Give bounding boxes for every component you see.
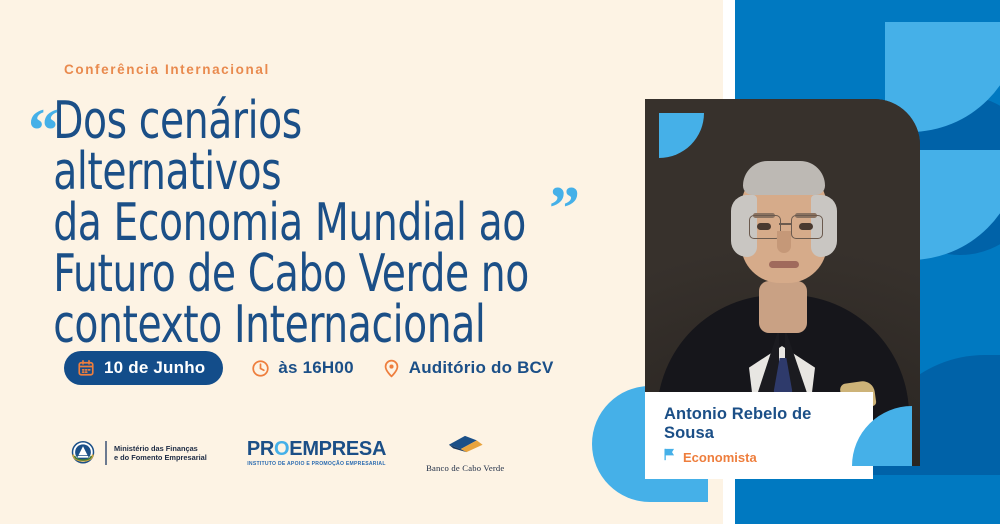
clock-icon — [251, 359, 270, 378]
logo-ministerio-label: Ministério das Finanças e do Fomento Emp… — [114, 444, 207, 463]
portrait-nose — [777, 231, 791, 253]
venue-item: Auditório do BCV — [376, 358, 554, 378]
proempresa-word-left: PR — [247, 438, 274, 460]
date-badge[interactable]: 10 de Junho — [64, 351, 223, 385]
speaker-role-row: Economista — [664, 448, 857, 466]
proempresa-wordmark: PROEMPRESA — [247, 439, 386, 459]
proempresa-subtitle: INSTITUTO DE APOIO E PROMOÇÃO EMPRESARIA… — [247, 461, 386, 467]
event-meta-row: 10 de Junho às 16H00 Auditório do BCV — [64, 351, 554, 385]
flag-icon — [664, 448, 676, 466]
logo-divider — [105, 441, 107, 465]
proempresa-word-right: EMPRESA — [289, 438, 386, 460]
portrait-glasses-bridge — [779, 223, 791, 225]
crest-icon — [68, 438, 98, 468]
speaker-name-card: Antonio Rebelo de Sousa Economista — [645, 392, 873, 479]
location-pin-icon — [382, 359, 401, 378]
conference-poster: Conferência Internacional “ Dos cenários… — [0, 0, 1000, 524]
logo-banco-de-cabo-verde: Banco de Cabo Verde — [426, 433, 504, 473]
logo-proempresa: PROEMPRESA INSTITUTO DE APOIO E PROMOÇÃO… — [247, 439, 386, 467]
portrait-hair-top — [743, 161, 825, 195]
eyebrow-label: Conferência Internacional — [64, 62, 270, 77]
partner-logos: Ministério das Finanças e do Fomento Emp… — [68, 433, 504, 473]
bcv-label: Banco de Cabo Verde — [426, 463, 504, 473]
portrait-neck — [759, 281, 807, 333]
venue-label: Auditório do BCV — [409, 358, 554, 378]
speaker-role: Economista — [683, 450, 757, 465]
logo-ministerio-das-financas: Ministério das Finanças e do Fomento Emp… — [68, 438, 207, 468]
portrait-eye-right — [799, 223, 813, 230]
date-label: 10 de Junho — [104, 358, 205, 378]
time-item: às 16H00 — [245, 358, 353, 378]
time-label: às 16H00 — [278, 358, 353, 378]
calendar-icon — [77, 359, 95, 377]
book-icon — [442, 442, 488, 459]
speaker-name: Antonio Rebelo de Sousa — [664, 405, 857, 443]
quote-close-icon: ” — [549, 178, 577, 240]
proempresa-word-mid: O — [274, 438, 289, 460]
portrait-eye-left — [757, 223, 771, 230]
portrait-mouth — [769, 261, 799, 268]
page-title: Dos cenários alternativos da Economia Mu… — [28, 96, 532, 351]
title-block: “ Dos cenários alternativos da Economia … — [28, 96, 628, 351]
